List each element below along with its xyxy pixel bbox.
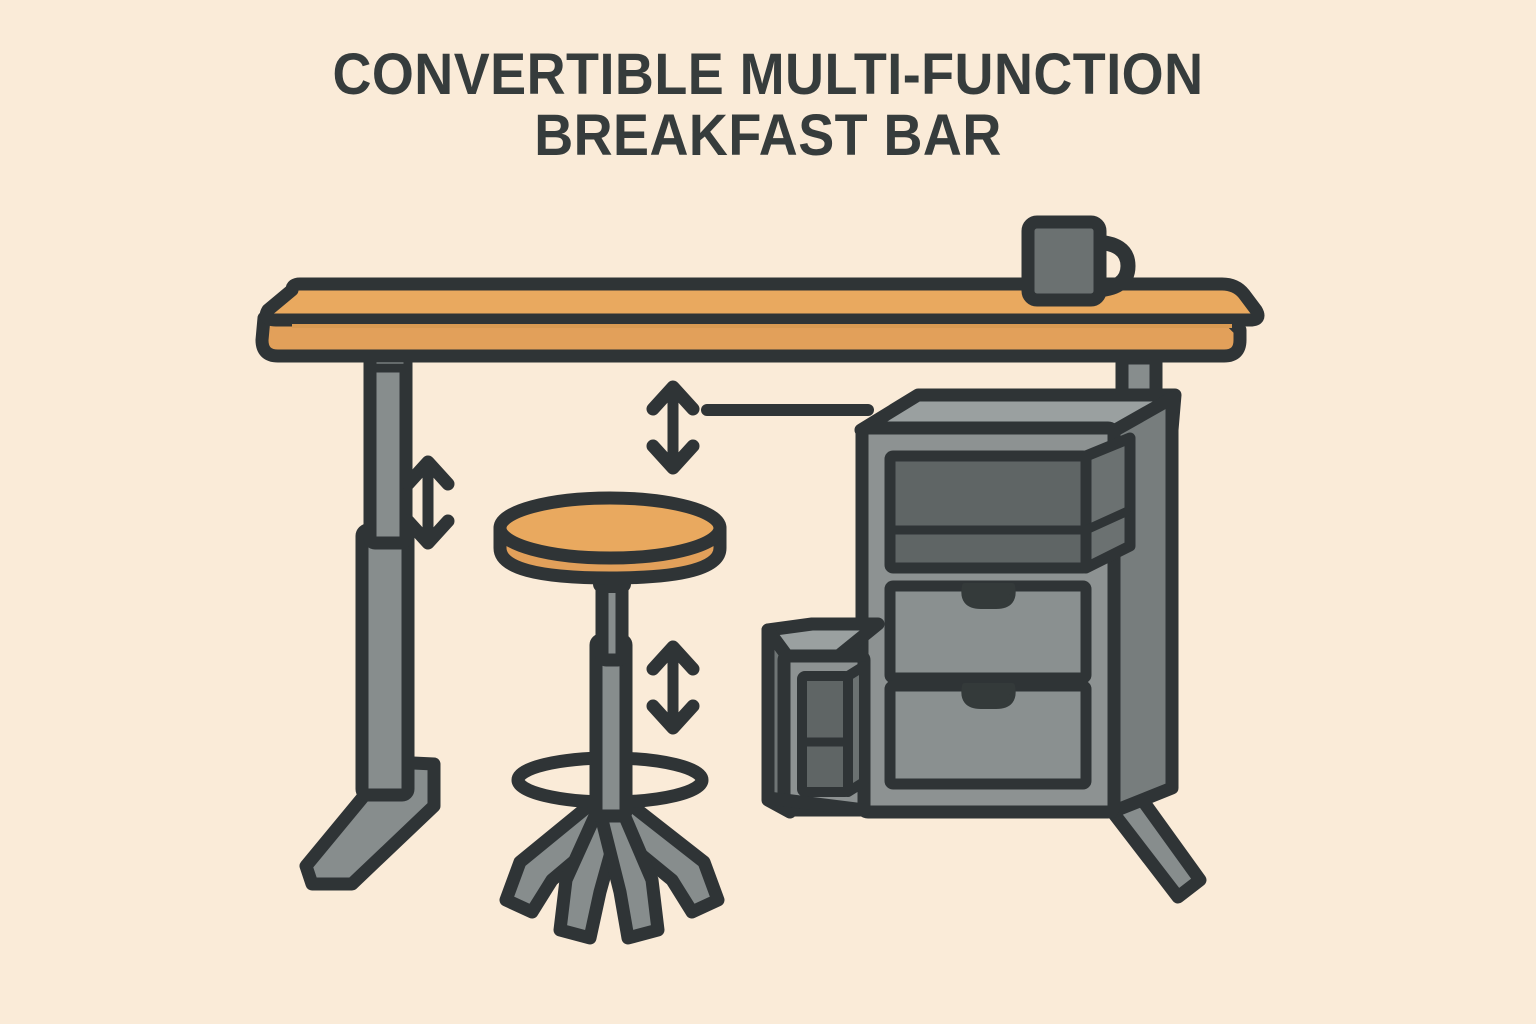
annotation-worktop-height-arrow (653, 387, 693, 468)
poster-canvas: CONVERTIBLE MULTI-FUNCTION BREAKFAST BAR (0, 0, 1536, 1024)
annotation-leg-height-arrow (408, 462, 448, 543)
cabinet-drawer-top[interactable] (890, 586, 1086, 678)
furniture-illustration (0, 0, 1536, 1024)
storage-cabinet (861, 395, 1175, 812)
cabinet-drawer-bottom[interactable] (890, 686, 1086, 784)
left-leg-assembly (306, 352, 434, 884)
annotation-stool-height-arrow (653, 647, 693, 728)
coffee-mug (1028, 222, 1128, 300)
side-step-cubby (768, 624, 878, 812)
